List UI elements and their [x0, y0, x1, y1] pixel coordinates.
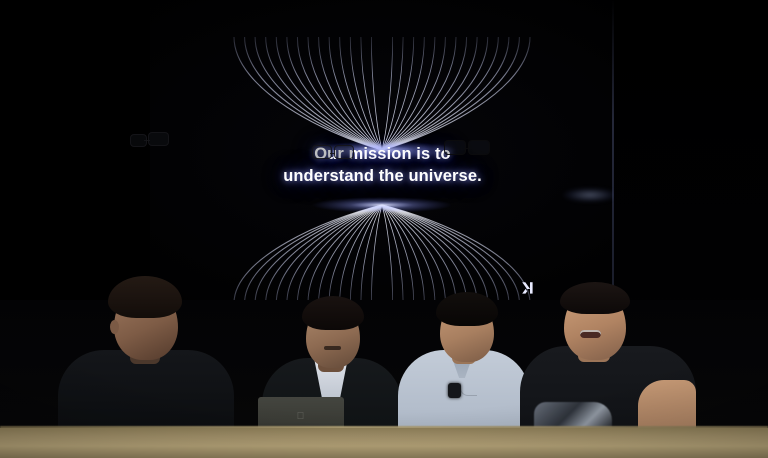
- panelist-2-moustache: [324, 346, 341, 350]
- mission-line-2: understand the universe.: [150, 165, 615, 187]
- panelist-1-glasses-bridge: [144, 140, 150, 141]
- video-frame: Our mission is to understand the univers…: [0, 0, 768, 458]
- panelist-1-hair: [108, 276, 182, 318]
- panelist-3-glasses-bridge: [464, 148, 469, 149]
- panelist-3-lens-right: [468, 140, 490, 155]
- slide-mission-text: Our mission is to understand the univers…: [150, 143, 615, 187]
- panelist-1-ear: [110, 320, 119, 334]
- panelist-2-hair: [302, 296, 364, 330]
- panelist-2-lens-left: [312, 145, 332, 159]
- presentation-screen: Our mission is to understand the univers…: [150, 0, 615, 303]
- panelist-3-lens-left: [444, 140, 466, 155]
- panelist-4-hair: [560, 282, 630, 314]
- apple-logo-icon: : [296, 412, 305, 422]
- panelist-4-mouth: [580, 330, 601, 338]
- panelist-2-lens-right: [334, 145, 354, 159]
- screen-glare: [563, 188, 617, 202]
- conference-table: [0, 428, 768, 458]
- panelist-3-hair: [436, 292, 498, 326]
- panelist-2-glasses-bridge: [330, 153, 335, 154]
- panelist-3-mic-cord: [460, 383, 477, 396]
- panelist-1-lens-right: [148, 132, 169, 146]
- panelist-3-lapel-microphone: [448, 383, 461, 398]
